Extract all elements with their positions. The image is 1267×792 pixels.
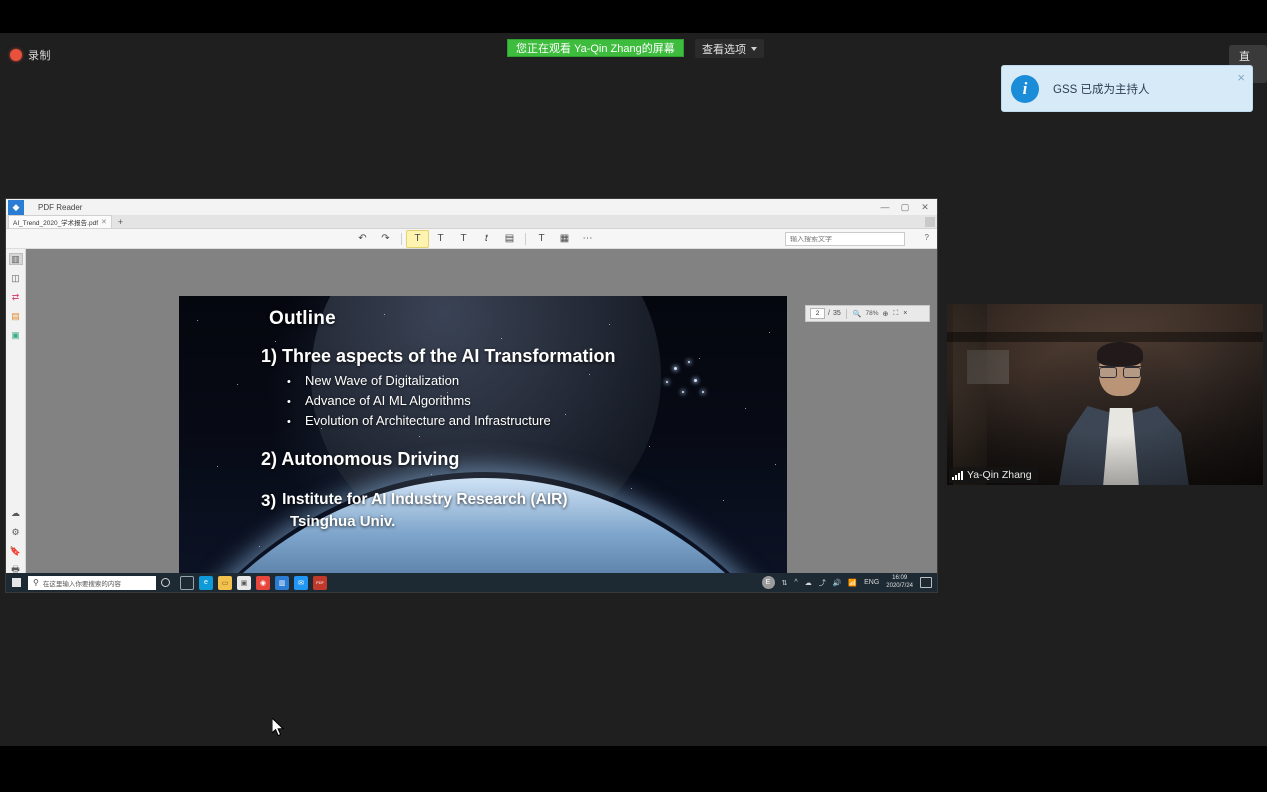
chevron-down-icon [751, 47, 757, 51]
pdf-app-icon: ◆ [8, 200, 24, 215]
strikethrough-text-icon[interactable]: T [452, 230, 475, 248]
highlight-text-icon[interactable]: T [406, 230, 429, 248]
signal-bars-icon [952, 471, 963, 480]
video-vignette [947, 304, 1263, 485]
pdf-page-navigation: 2 / 35 🔍 78% ⊕ ⛶ × [805, 305, 930, 322]
zoom-in-icon[interactable]: ⊕ [881, 310, 889, 318]
tray-onedrive-icon[interactable]: ☁ [805, 579, 812, 587]
pdf-document-tab[interactable]: AI_Trend_2020_学术报告.pdf ✕ [8, 215, 112, 228]
recording-indicator[interactable]: 录制 [10, 47, 51, 63]
tray-ime-icon[interactable]: ENG [864, 579, 879, 586]
viewing-screen-text: 您正在观看 Ya-Qin Zhang的屏幕 [516, 40, 675, 56]
new-tab-button[interactable]: + [114, 215, 127, 228]
tray-avatar-icon[interactable]: E [762, 576, 775, 589]
toast-message: GSS 已成为主持人 [1053, 81, 1149, 97]
slide-section-1-bullets: • New Wave of Digitalization • Advance o… [287, 373, 787, 428]
tray-network-icon[interactable]: 📶 [848, 579, 857, 587]
close-button[interactable]: ✕ [915, 199, 935, 215]
pdf-search-box[interactable] [785, 232, 905, 246]
sidebar-annotations[interactable]: ⇄ [9, 291, 23, 303]
page-separator: / [828, 310, 830, 317]
tab-close-icon[interactable]: ✕ [101, 218, 107, 226]
pdf-window-titlebar[interactable]: ◆ PDF Reader — ▢ ✕ [6, 199, 937, 215]
tabstrip-overflow[interactable] [925, 217, 935, 227]
microsoft-store-icon[interactable]: ▣ [237, 576, 251, 590]
record-dot-icon [10, 49, 22, 61]
sidebar-bookmark[interactable]: 🔖 [9, 545, 23, 557]
toolbar-divider-2 [525, 233, 526, 245]
zoom-level-label: 78% [865, 310, 878, 317]
search-placeholder: 在这里输入你要搜索的内容 [43, 578, 121, 588]
slide-title: Outline [269, 308, 787, 330]
slide-section-3-heading: 3) Institute for AI Industry Research (A… [261, 491, 787, 511]
pdf-left-sidebar: ▥ ◫ ⇄ ▤ ▣ ☁ ⚙ 🔖 🖶 [6, 249, 26, 586]
slide-section-1-text: Three aspects of the AI Transformation [282, 346, 615, 366]
sidebar-outline[interactable]: ◫ [9, 272, 23, 284]
slide-bullet: • Advance of AI ML Algorithms [287, 393, 787, 408]
windows-start-icon[interactable] [6, 573, 27, 592]
taskbar-clock[interactable]: 16:09 2020/7/24 [886, 575, 913, 590]
slide-section-1-number: 1) [261, 346, 277, 366]
bullet-glyph: • [287, 416, 293, 428]
participant-video-tile[interactable]: Ya-Qin Zhang [947, 304, 1263, 485]
page-nav-divider [846, 309, 847, 319]
slide-section-3-subheading: Tsinghua Univ. [290, 513, 787, 530]
sidebar-attachments[interactable]: ▤ [9, 310, 23, 322]
pen-icon[interactable]: 𝑡 [475, 230, 498, 248]
total-pages-label: 35 [833, 310, 841, 317]
shared-screen-region[interactable]: ◆ PDF Reader — ▢ ✕ AI_Trend_2020_学术报告.pd… [5, 198, 938, 593]
bullet-glyph: • [287, 376, 293, 388]
cortana-icon[interactable] [156, 573, 174, 592]
pdf-window-title: PDF Reader [38, 203, 82, 212]
sidebar-thumbnails[interactable]: ▥ [9, 253, 23, 265]
slide-section-2-number: 2) [261, 449, 277, 469]
file-explorer-icon[interactable]: ▭ [218, 576, 232, 590]
window-controls: — ▢ ✕ [875, 199, 935, 215]
viewing-screen-banner: 您正在观看 Ya-Qin Zhang的屏幕 [507, 39, 684, 57]
minimize-button[interactable]: — [875, 199, 895, 215]
windows-search-box[interactable]: ⚲ 在这里输入你要搜索的内容 [28, 576, 156, 590]
tray-share-icon[interactable]: ⤴ [819, 578, 826, 588]
slide-section-3-number: 3) [261, 491, 276, 511]
pdf-reader-icon[interactable]: PDF [313, 576, 327, 590]
slide-bullet: • Evolution of Architecture and Infrastr… [287, 413, 787, 428]
search-icon: ⚲ [33, 578, 39, 587]
redo-icon[interactable]: ↷ [374, 230, 397, 248]
edge-icon[interactable]: e [199, 576, 213, 590]
pdf-body: ▥ ◫ ⇄ ▤ ▣ ☁ ⚙ 🔖 🖶 [6, 249, 937, 586]
sidebar-settings[interactable]: ⚙ [9, 526, 23, 538]
typewriter-text-icon[interactable]: T [530, 230, 553, 248]
toolbar-divider [401, 233, 402, 245]
participant-name-label: Ya-Qin Zhang [967, 469, 1032, 481]
slide-content: Outline 1) Three aspects of the AI Trans… [179, 296, 787, 530]
page-number-input[interactable]: 2 [810, 308, 825, 319]
sidebar-cloud[interactable]: ☁ [9, 507, 23, 519]
clock-time: 16:09 [892, 575, 907, 581]
info-icon: i [1011, 75, 1039, 103]
magnifier-icon[interactable]: 🔍 [852, 310, 863, 318]
close-icon[interactable]: × [1237, 71, 1245, 84]
pdf-annotation-toolbar: ↶ ↷ T T T 𝑡 ▤ T ▦ ⋯ ? [6, 229, 937, 249]
chrome-icon[interactable]: ◉ [256, 576, 270, 590]
bullet-text: Evolution of Architecture and Infrastruc… [305, 413, 551, 428]
host-change-toast: i GSS 已成为主持人 × [1001, 65, 1253, 112]
office-icon[interactable]: ▥ [275, 576, 289, 590]
tray-sync-icon[interactable]: ⇅ [782, 579, 788, 587]
view-options-button[interactable]: 查看选项 [695, 39, 764, 58]
pdf-tab-strip: AI_Trend_2020_学术报告.pdf ✕ + [6, 215, 937, 229]
presentation-slide: Outline 1) Three aspects of the AI Trans… [179, 296, 787, 586]
slide-section-2-heading: 2) Autonomous Driving [261, 449, 787, 470]
recording-label: 录制 [28, 47, 51, 63]
tray-volume-icon[interactable]: 🔊 [833, 579, 842, 587]
underline-text-icon[interactable]: T [429, 230, 452, 248]
tray-overflow-icon[interactable]: ^ [794, 579, 797, 586]
system-tray: E ⇅ ^ ☁ ⤴ 🔊 📶 ENG 16:09 2020/7/24 [762, 575, 937, 590]
stamp-icon[interactable]: ▦ [553, 230, 576, 248]
maximize-button[interactable]: ▢ [895, 199, 915, 215]
area-highlight-icon[interactable]: ▤ [498, 230, 521, 248]
task-view-icon[interactable] [180, 576, 194, 590]
undo-icon[interactable]: ↶ [351, 230, 374, 248]
view-options-label: 查看选项 [702, 41, 746, 57]
sidebar-signatures[interactable]: ▣ [9, 329, 23, 341]
fit-page-icon[interactable]: ⛶ [892, 310, 899, 318]
slide-section-3-text: Institute for AI Industry Research (AIR) [282, 491, 567, 511]
slide-section-1-heading: 1) Three aspects of the AI Transformatio… [261, 346, 787, 367]
bullet-glyph: • [287, 396, 293, 408]
pdf-tab-filename: AI_Trend_2020_学术报告.pdf [13, 217, 98, 227]
page-nav-close-icon[interactable]: × [902, 310, 908, 317]
taskbar-app-icons: e ▭ ▣ ◉ ▥ ✉ PDF [180, 576, 327, 590]
screen-root: 录制 您正在观看 Ya-Qin Zhang的屏幕 查看选项 直播 i GSS 已… [0, 0, 1267, 792]
windows-taskbar: ⚲ 在这里输入你要搜索的内容 e ▭ ▣ ◉ ▥ ✉ PDF E ⇅ ^ ☁ ⤴… [6, 573, 937, 592]
pdf-toolbar-buttons: ↶ ↷ T T T 𝑡 ▤ T ▦ ⋯ [351, 230, 599, 248]
slide-bullet: • New Wave of Digitalization [287, 373, 787, 388]
more-tools-icon[interactable]: ⋯ [576, 230, 599, 248]
participant-name-badge: Ya-Qin Zhang [949, 467, 1038, 483]
mail-icon[interactable]: ✉ [294, 576, 308, 590]
action-center-icon[interactable] [920, 577, 932, 588]
pdf-page-canvas[interactable]: Outline 1) Three aspects of the AI Trans… [26, 249, 937, 586]
slide-section-2-text: Autonomous Driving [281, 449, 459, 469]
clock-date: 2020/7/24 [886, 583, 913, 589]
search-input[interactable] [790, 236, 900, 243]
help-icon[interactable]: ? [925, 233, 929, 242]
bullet-text: Advance of AI ML Algorithms [305, 393, 471, 408]
bullet-text: New Wave of Digitalization [305, 373, 459, 388]
